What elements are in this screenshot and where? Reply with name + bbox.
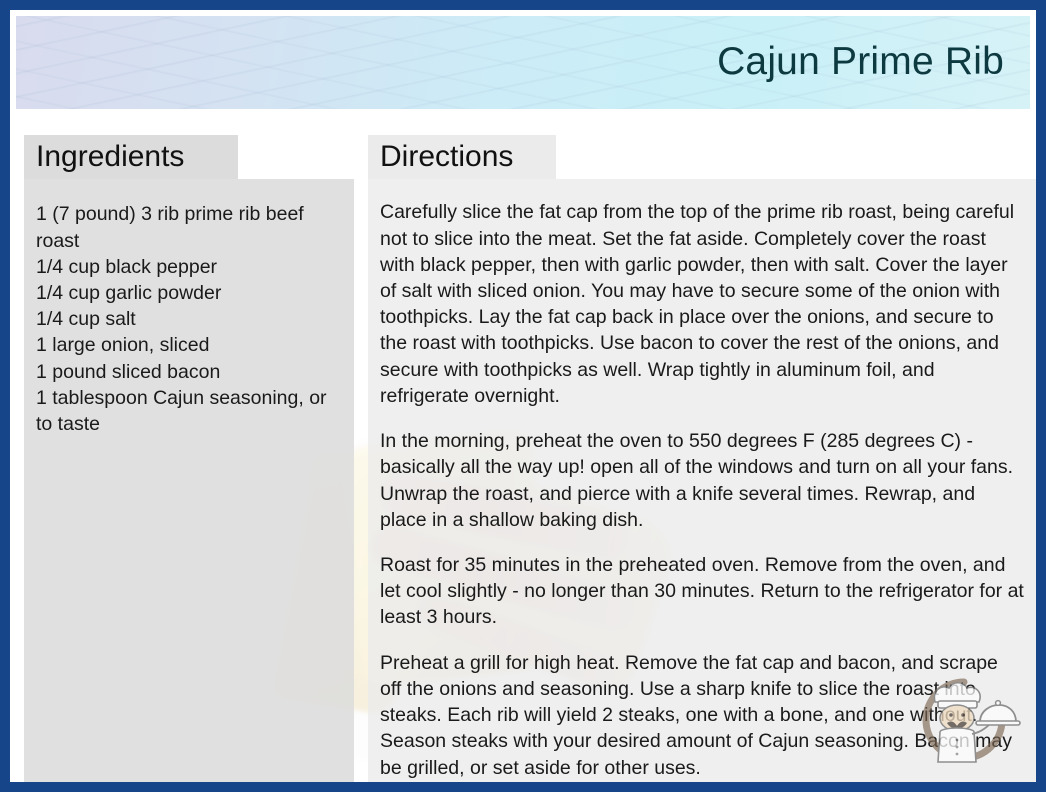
list-item: 1/4 cup black pepper bbox=[36, 254, 340, 280]
ingredients-heading: Ingredients bbox=[24, 135, 238, 179]
directions-panel: Carefully slice the fat cap from the top… bbox=[368, 179, 1036, 784]
direction-step: In the morning, preheat the oven to 550 … bbox=[380, 428, 1024, 533]
ingredients-section: Ingredients 1 (7 pound) 3 rib prime rib … bbox=[24, 135, 354, 784]
direction-step: Roast for 35 minutes in the preheated ov… bbox=[380, 552, 1024, 631]
page-title: Cajun Prime Rib bbox=[717, 40, 1004, 84]
ingredients-panel: 1 (7 pound) 3 rib prime rib beef roast 1… bbox=[24, 179, 354, 784]
direction-step: Preheat a grill for high heat. Remove th… bbox=[380, 650, 1024, 781]
list-item: 1/4 cup garlic powder bbox=[36, 280, 340, 306]
recipe-card: Cajun Prime Rib Ingredients 1 (7 pound) … bbox=[0, 0, 1046, 792]
direction-step: Carefully slice the fat cap from the top… bbox=[380, 199, 1024, 409]
directions-section: Directions Carefully slice the fat cap f… bbox=[368, 135, 1036, 784]
list-item: 1 (7 pound) 3 rib prime rib beef roast bbox=[36, 201, 340, 253]
list-item: 1/4 cup salt bbox=[36, 306, 340, 332]
ingredient-list: 1 (7 pound) 3 rib prime rib beef roast 1… bbox=[36, 201, 340, 437]
list-item: 1 pound sliced bacon bbox=[36, 359, 340, 385]
title-banner: Cajun Prime Rib bbox=[16, 16, 1030, 109]
list-item: 1 large onion, sliced bbox=[36, 332, 340, 358]
list-item: 1 tablespoon Cajun seasoning, or to tast… bbox=[36, 385, 340, 437]
directions-heading: Directions bbox=[368, 135, 556, 179]
